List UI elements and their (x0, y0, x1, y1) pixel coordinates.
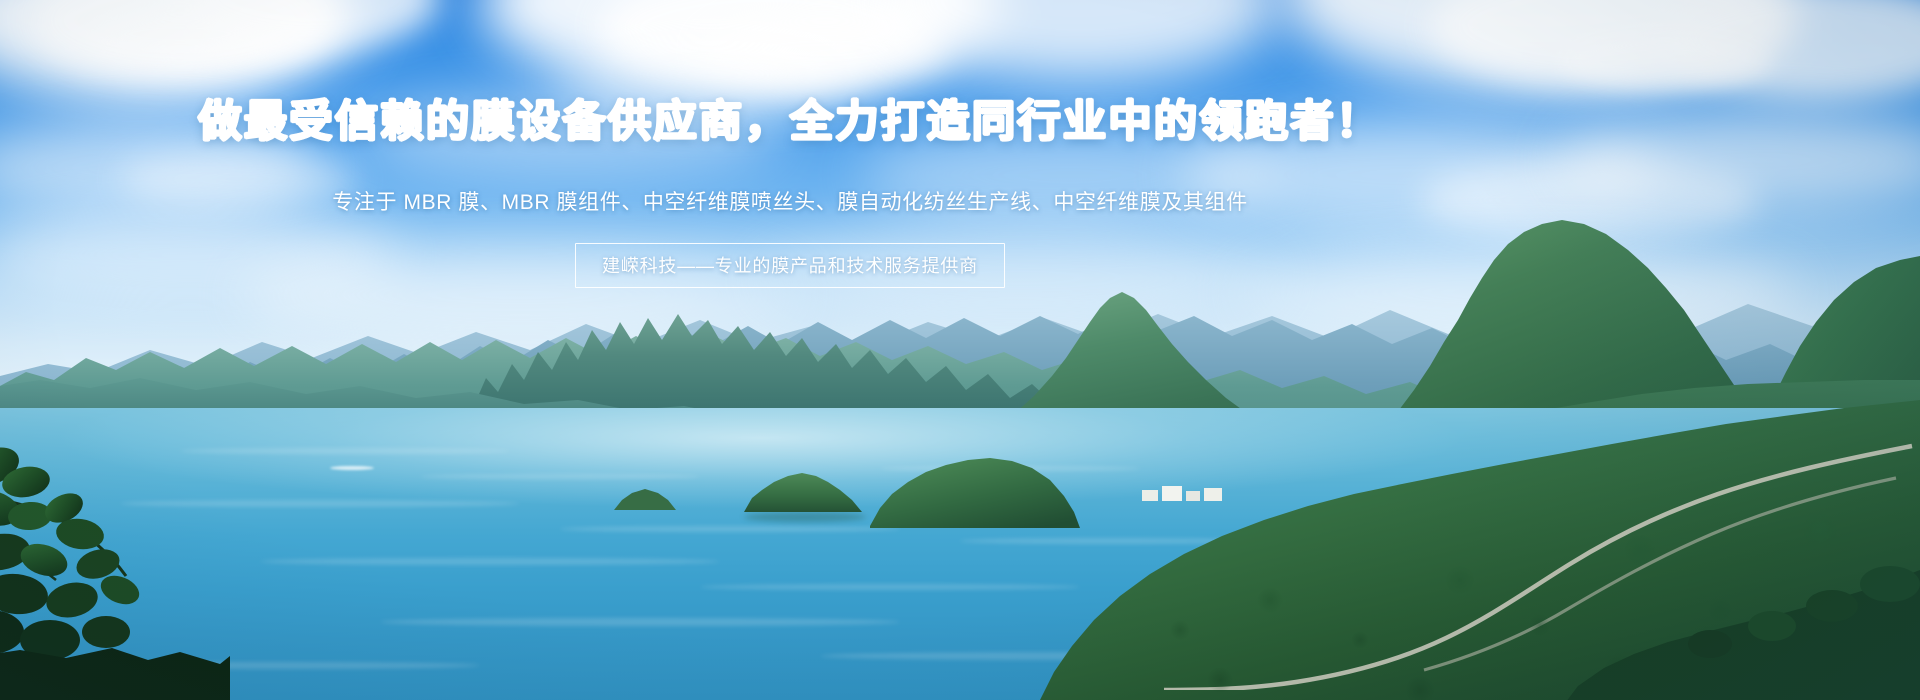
foreground-foliage-right (1560, 540, 1920, 700)
shoreline-buildings (1142, 486, 1230, 502)
island-small-left (612, 486, 678, 512)
foreground-foliage-left (0, 404, 230, 700)
hero-banner: 做最受信赖的膜设备供应商，全力打造同行业中的领跑者！ 专注于 MBR 膜、MBR… (0, 0, 1920, 700)
boat-wake (330, 466, 374, 470)
island-center (740, 468, 870, 516)
banner-tagline-box[interactable]: 建嵘科技——专业的膜产品和技术服务提供商 (575, 243, 1005, 288)
banner-tagline-text: 建嵘科技——专业的膜产品和技术服务提供商 (602, 252, 978, 278)
